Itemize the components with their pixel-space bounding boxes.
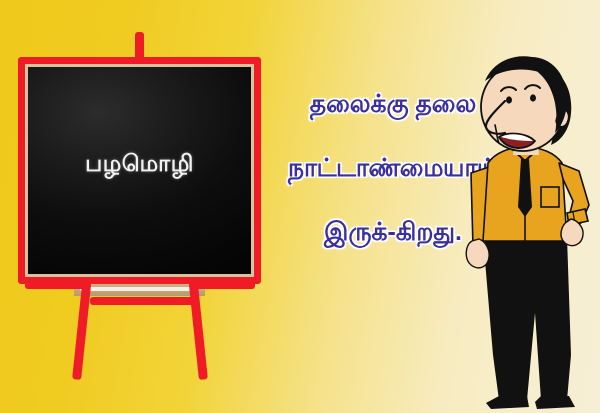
blackboard-heading: பழமொழி <box>85 150 194 180</box>
proverb-illustration: பழமொழி தலைக்கு தலை நாட்டாண்மையாய் இருக்-… <box>0 0 600 413</box>
easel-shoulder-right <box>189 280 255 289</box>
eye-left-icon <box>506 96 512 103</box>
shoe-right-icon <box>535 396 575 409</box>
trousers-shape <box>483 237 571 400</box>
chalk-icon <box>80 287 196 291</box>
eye-right-icon <box>530 94 536 101</box>
easel-leg-right <box>189 285 208 380</box>
hand-left-shape <box>466 239 489 268</box>
blackboard-easel: பழமொழி <box>0 0 280 413</box>
blackboard-surface: பழமொழி <box>28 67 251 274</box>
shoe-left-icon <box>486 396 529 409</box>
blackboard-frame: பழமொழி <box>18 57 261 284</box>
cartoon-man <box>455 55 600 413</box>
blackboard-bevel: பழமொழி <box>25 64 254 277</box>
easel-leg-left <box>72 285 91 380</box>
easel-crossbar <box>90 297 194 305</box>
